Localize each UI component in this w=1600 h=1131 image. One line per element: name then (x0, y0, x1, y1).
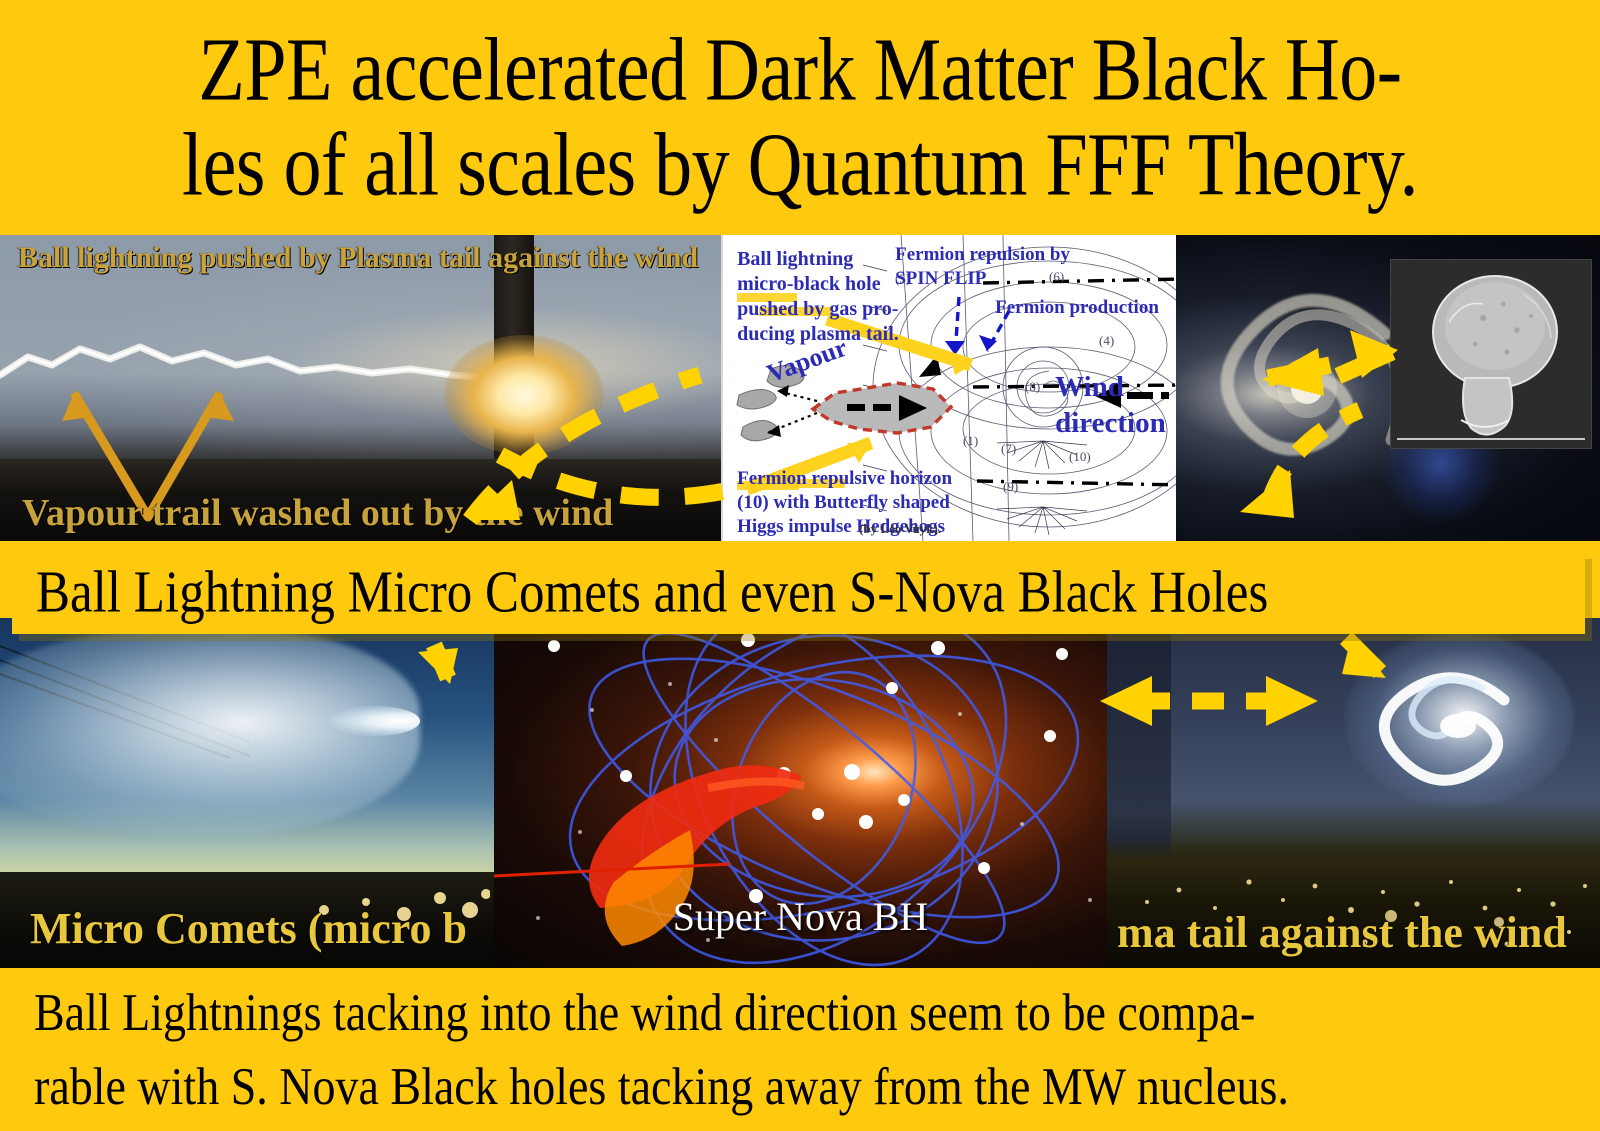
sem-inset-photo (1390, 259, 1592, 449)
bottom-line-1: Ball Lightnings tacking into the wind di… (0, 970, 1600, 1054)
panel-fff-diagram: (5) (6) (4) (8) (1) (7) (10) (9) (721, 235, 1175, 541)
middle-banner-text: Ball Lightning Micro Comets and even S-N… (12, 559, 1268, 626)
lightning-caption-top: Ball lightning pushed by Plasma tail aga… (0, 241, 721, 275)
svg-text:(9): (9) (1003, 479, 1018, 494)
image-row-bottom: Micro Comets (micro b (0, 618, 1600, 968)
sky-spiral-icon (1356, 652, 1546, 802)
middle-banner: Ball Lightning Micro Comets and even S-N… (12, 552, 1585, 634)
lightning-caption-bottom: Vapour trail washed out by the wind (0, 491, 721, 535)
panel-ball-lightning-photo: Ball lightning pushed by Plasma tail aga… (0, 235, 721, 541)
diagram-label-wind-direction: Wind direction (1055, 369, 1166, 441)
image-row-top: Ball lightning pushed by Plasma tail aga… (0, 235, 1600, 541)
panel-super-nova-bh: Super Nova BH (494, 618, 1107, 968)
panel-galaxy-spiral (1176, 235, 1600, 541)
diagram-label-ball-lightning: Ball lightning micro-black hole pushed b… (737, 247, 899, 347)
poster-root: ZPE accelerated Dark Matter Black Ho- le… (0, 0, 1600, 1131)
comet-head-glow (330, 706, 420, 736)
svg-text:(7): (7) (1001, 441, 1016, 456)
poster-title: ZPE accelerated Dark Matter Black Ho- le… (0, 0, 1600, 235)
super-nova-label: Super Nova BH (673, 893, 929, 940)
comet-caption: Micro Comets (micro b (0, 903, 494, 954)
panel-city-lights-spiral: ma tail against the wind (1107, 618, 1600, 968)
diagram-label-spin-flip: Fermion repulsion by SPIN FLIP (895, 243, 1070, 291)
svg-text:(10): (10) (1069, 449, 1091, 464)
bottom-line-2: rable with S. Nova Black holes tacking a… (0, 1044, 1600, 1128)
city-caption: ma tail against the wind (1107, 907, 1600, 958)
svg-text:(4): (4) (1099, 333, 1114, 348)
lightning-flash-glow (444, 335, 604, 455)
sem-particle-icon (1391, 260, 1591, 448)
panel-micro-comet-photo: Micro Comets (micro b (0, 618, 494, 968)
title-line-2: les of all scales by Quantum FFF Theory. (182, 109, 1418, 221)
bottom-caption-block: Ball Lightnings tacking into the wind di… (0, 968, 1600, 1131)
sem-scale-bar (1397, 438, 1585, 440)
diagram-credit: (by Leo Vuyk). (859, 521, 941, 537)
diagram-label-fermion-production: Fermion production (995, 297, 1159, 319)
